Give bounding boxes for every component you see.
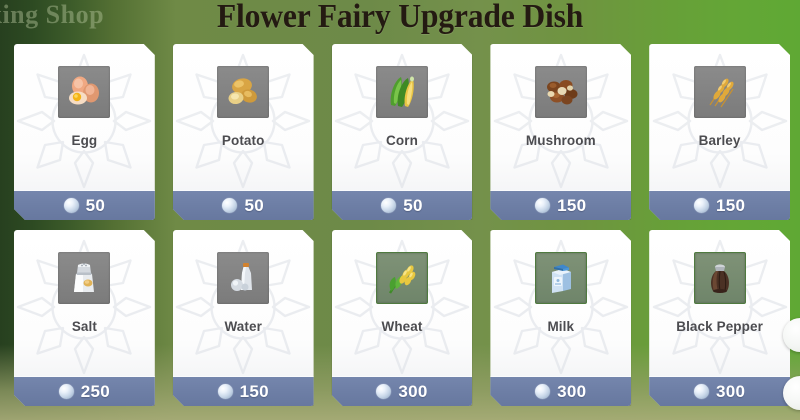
- card-body: Mushroom: [490, 44, 631, 190]
- item-price: 300: [557, 382, 586, 402]
- salt-shaker-icon: [64, 258, 104, 298]
- item-name: Barley: [699, 134, 741, 149]
- mushroom-icon: [541, 72, 581, 112]
- item-price: 50: [86, 196, 106, 216]
- coin-icon: [376, 384, 391, 399]
- item-icon-box-milk-carton-icon: [535, 252, 587, 304]
- item-name: Corn: [386, 134, 418, 149]
- item-price: 150: [716, 196, 745, 216]
- item-icon-box-pepper-mill-icon: [694, 252, 746, 304]
- card-body: Salt: [14, 230, 155, 376]
- coin-icon: [222, 198, 237, 213]
- card-body: Corn: [332, 44, 473, 190]
- coin-icon: [59, 384, 74, 399]
- coin-icon: [694, 384, 709, 399]
- item-price: 300: [716, 382, 745, 402]
- pepper-mill-icon: [700, 258, 740, 298]
- coin-icon: [535, 384, 550, 399]
- ingredient-card-egg[interactable]: Egg 50: [14, 44, 155, 220]
- water-bottle-icon: [223, 258, 263, 298]
- shop-screen: oking Shop Flower Fairy Upgrade Dish: [0, 0, 800, 420]
- ingredient-card-salt[interactable]: Salt 250: [14, 230, 155, 406]
- item-name: Mushroom: [526, 134, 596, 149]
- item-icon-box-wheat-icon: [376, 252, 428, 304]
- coin-icon: [694, 198, 709, 213]
- item-name: Egg: [71, 134, 97, 149]
- item-price-bar[interactable]: 300: [332, 376, 473, 406]
- item-icon-box-salt-shaker-icon: [58, 252, 110, 304]
- ingredient-card-wheat[interactable]: Wheat 300: [332, 230, 473, 406]
- ingredient-card-mushroom[interactable]: Mushroom 150: [490, 44, 631, 220]
- card-body: Black Pepper: [649, 230, 790, 376]
- item-name: Potato: [222, 134, 265, 149]
- item-icon-box-barley-icon: [694, 66, 746, 118]
- ingredient-card-barley[interactable]: Barley 150: [649, 44, 790, 220]
- item-icon-box-mushroom-icon: [535, 66, 587, 118]
- card-body: Milk: [490, 230, 631, 376]
- coin-icon: [535, 198, 550, 213]
- item-price-bar[interactable]: 150: [649, 190, 790, 220]
- milk-carton-icon: [541, 258, 581, 298]
- wheat-icon: [382, 258, 422, 298]
- item-price: 150: [557, 196, 586, 216]
- potato-icon: [223, 72, 263, 112]
- item-icon-box-water-bottle-icon: [217, 252, 269, 304]
- item-price: 50: [403, 196, 423, 216]
- item-price-bar[interactable]: 50: [332, 190, 473, 220]
- ingredient-card-water[interactable]: Water 150: [173, 230, 314, 406]
- item-price: 250: [81, 382, 110, 402]
- item-icon-box-potato-icon: [217, 66, 269, 118]
- card-body: Potato: [173, 44, 314, 190]
- item-price-bar[interactable]: 50: [173, 190, 314, 220]
- ingredient-card-corn[interactable]: Corn 50: [332, 44, 473, 220]
- card-body: Barley: [649, 44, 790, 190]
- item-name: Salt: [72, 320, 97, 335]
- coin-icon: [64, 198, 79, 213]
- item-icon-box-egg-icon: [58, 66, 110, 118]
- item-price: 150: [240, 382, 269, 402]
- coin-icon: [218, 384, 233, 399]
- page-title: Flower Fairy Upgrade Dish: [28, 0, 772, 36]
- card-body: Water: [173, 230, 314, 376]
- item-price-bar[interactable]: 300: [649, 376, 790, 406]
- item-price-bar[interactable]: 150: [173, 376, 314, 406]
- barley-icon: [700, 72, 740, 112]
- card-body: Egg: [14, 44, 155, 190]
- item-price-bar[interactable]: 250: [14, 376, 155, 406]
- ingredient-card-black-pepper[interactable]: Black Pepper 300: [649, 230, 790, 406]
- coin-icon: [381, 198, 396, 213]
- item-name: Wheat: [381, 320, 422, 335]
- ingredient-card-potato[interactable]: Potato 50: [173, 44, 314, 220]
- item-name: Milk: [547, 320, 574, 335]
- corn-icon: [382, 72, 422, 112]
- item-name: Black Pepper: [676, 320, 763, 335]
- item-icon-box-corn-icon: [376, 66, 428, 118]
- egg-icon: [64, 72, 104, 112]
- item-price-bar[interactable]: 300: [490, 376, 631, 406]
- item-name: Water: [224, 320, 262, 335]
- ingredient-grid: Egg 50: [14, 44, 790, 406]
- card-body: Wheat: [332, 230, 473, 376]
- item-price-bar[interactable]: 50: [14, 190, 155, 220]
- item-price: 300: [398, 382, 427, 402]
- ingredient-card-milk[interactable]: Milk 300: [490, 230, 631, 406]
- item-price-bar[interactable]: 150: [490, 190, 631, 220]
- item-price: 50: [244, 196, 264, 216]
